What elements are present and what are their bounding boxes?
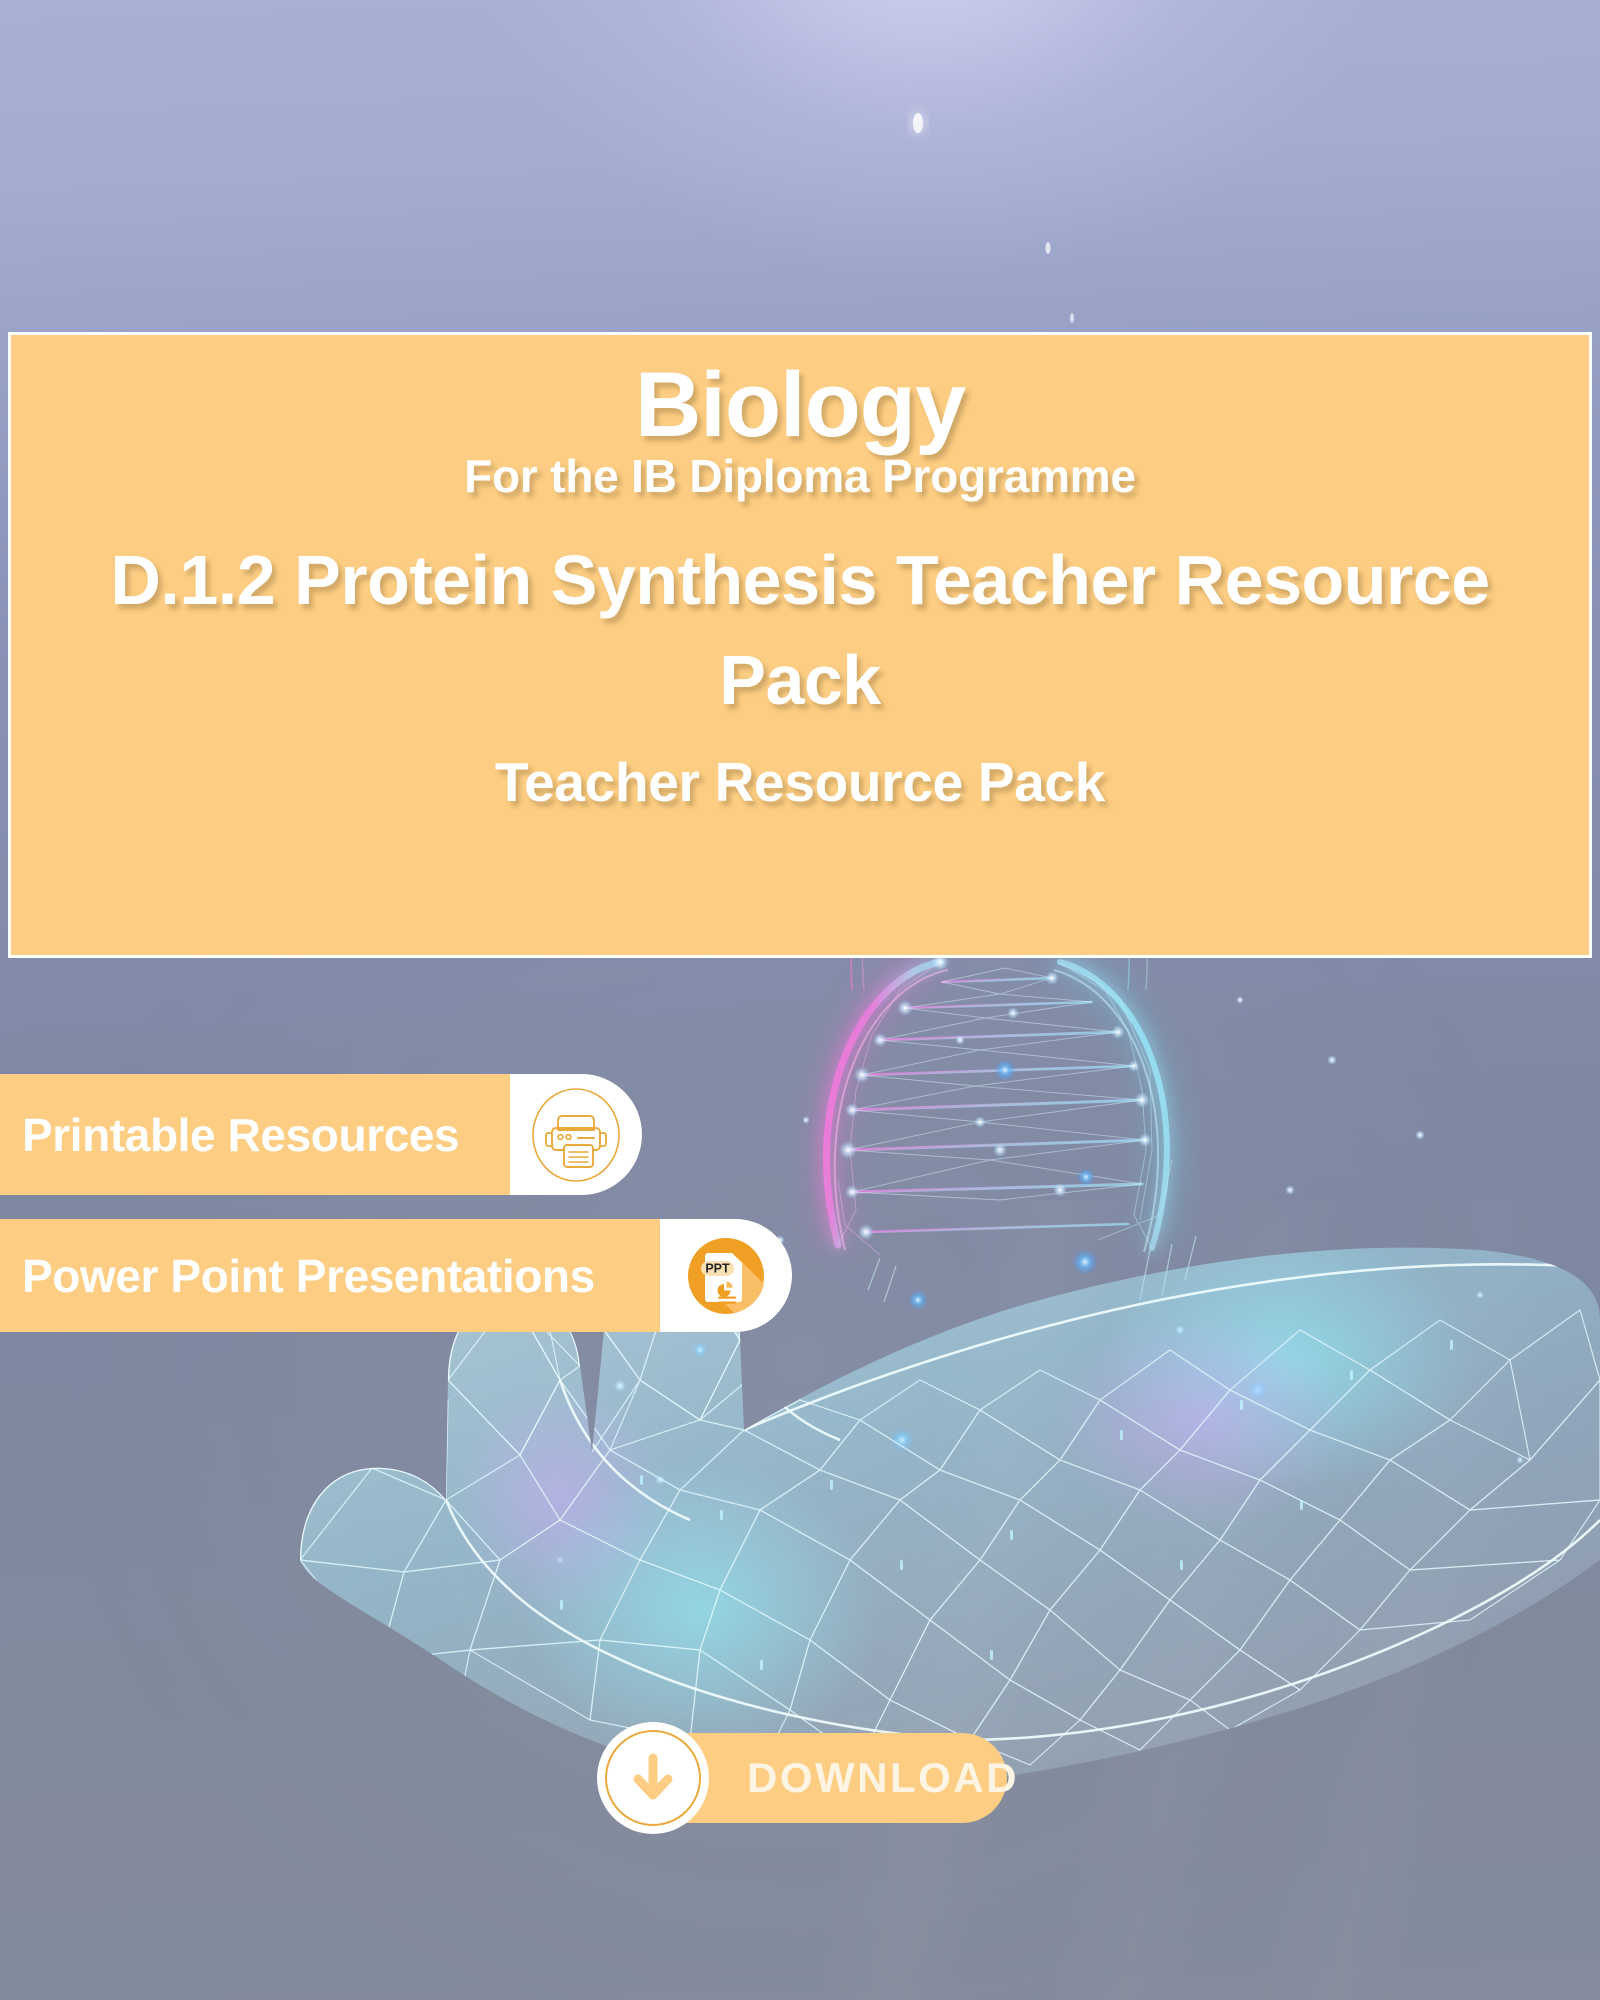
- background-vignette: [0, 0, 1600, 2000]
- badge-printable-label: Printable Resources: [22, 1112, 459, 1158]
- title-banner: Biology For the IB Diploma Programme D.1…: [8, 332, 1592, 958]
- badge-powerpoint-bar: Power Point Presentations: [0, 1219, 660, 1332]
- printer-icon: [524, 1083, 628, 1187]
- badge-printable-resources[interactable]: Printable Resources: [0, 1074, 642, 1195]
- programme-subtitle: For the IB Diploma Programme: [464, 451, 1136, 502]
- download-icon-circle: [597, 1722, 709, 1834]
- page-title: Biology: [635, 357, 965, 455]
- resource-subtitle: Teacher Resource Pack: [495, 752, 1105, 813]
- resource-cover-page: Biology For the IB Diploma Programme D.1…: [0, 0, 1600, 2000]
- download-arrow-icon: [623, 1748, 683, 1808]
- download-icon-ring: [605, 1730, 701, 1826]
- badge-powerpoint-icon-container: PPT: [660, 1219, 792, 1332]
- ppt-icon-text: PPT: [705, 1261, 730, 1275]
- badge-printable-bar: Printable Resources: [0, 1074, 510, 1195]
- download-button[interactable]: DOWNLOAD: [597, 1722, 1007, 1834]
- download-button-label: DOWNLOAD: [747, 1722, 1019, 1834]
- badge-powerpoint-label: Power Point Presentations: [22, 1253, 595, 1299]
- powerpoint-file-icon: PPT: [676, 1226, 776, 1326]
- resource-title: D.1.2 Protein Synthesis Teacher Resource…: [30, 531, 1570, 730]
- badge-printable-icon-container: [510, 1074, 642, 1195]
- badge-powerpoint-presentations[interactable]: Power Point Presentations PPT: [0, 1219, 792, 1332]
